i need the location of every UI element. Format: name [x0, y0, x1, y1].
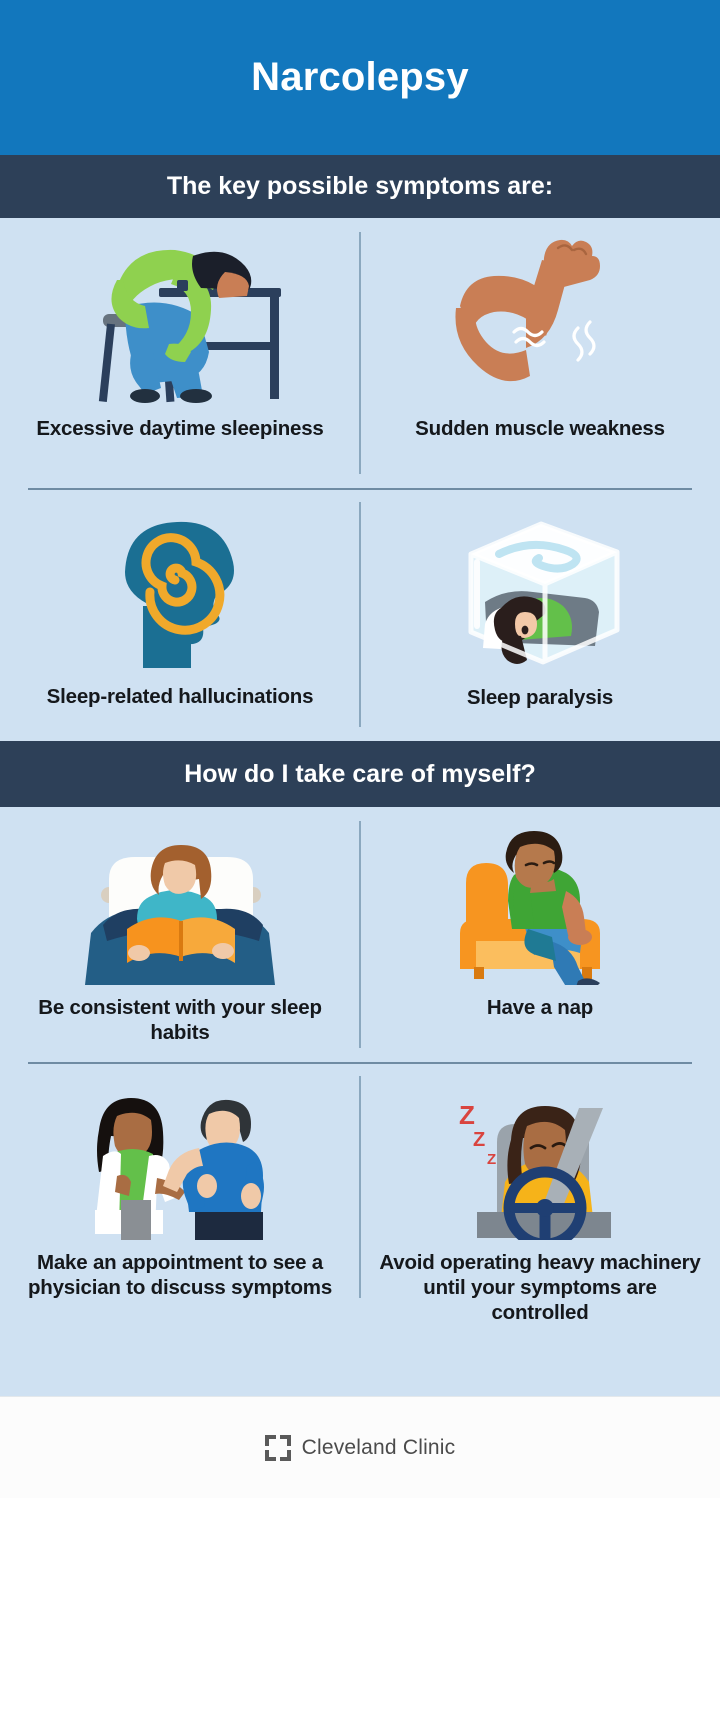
- care-card-sleep-habits: Be consistent with your sleep habits: [0, 807, 360, 1062]
- symptom-card-excessive-daytime-sleepiness: Excessive daytime sleepiness: [0, 218, 360, 488]
- symptom-card-sleep-paralysis: Sleep paralysis: [360, 488, 720, 741]
- symptom-caption: Sudden muscle weakness: [415, 416, 665, 441]
- svg-text:Z: Z: [473, 1129, 485, 1151]
- symptom-caption: Sleep paralysis: [467, 685, 613, 710]
- self-care-row-1: Be consistent with your sleep habits: [0, 807, 720, 1062]
- symptom-caption: Excessive daytime sleepiness: [36, 416, 323, 441]
- person-asleep-at-desk-icon: [14, 236, 346, 406]
- person-napping-in-armchair-icon: [374, 825, 706, 985]
- infographic-page: Narcolepsy The key possible symptoms are…: [0, 0, 720, 1713]
- section-heading-self-care: How do I take care of myself?: [184, 760, 536, 789]
- cleveland-clinic-logo-icon: [265, 1435, 291, 1461]
- symptom-caption: Sleep-related hallucinations: [47, 684, 314, 709]
- self-care-row-2: Make an appointment to see a physician t…: [0, 1062, 720, 1318]
- section-header-self-care: How do I take care of myself?: [0, 741, 720, 807]
- care-caption: Make an appointment to see a physician t…: [14, 1250, 346, 1300]
- flexed-arm-weakness-icon: [374, 236, 706, 406]
- section-header-symptoms: The key possible symptoms are:: [0, 155, 720, 218]
- care-card-have-a-nap: Have a nap: [360, 807, 720, 1062]
- care-card-avoid-heavy-machinery: Z Z Z Avoid operating heavy machinery un…: [360, 1062, 720, 1339]
- symptom-card-sleep-related-hallucinations: Sleep-related hallucinations: [0, 488, 360, 741]
- svg-text:Z: Z: [487, 1151, 496, 1168]
- section-heading-symptoms: The key possible symptoms are:: [167, 172, 553, 201]
- page-title: Narcolepsy: [251, 55, 469, 100]
- symptoms-row-1: Excessive daytime sleepiness: [0, 218, 720, 488]
- care-caption: Have a nap: [487, 995, 593, 1020]
- care-card-see-physician: Make an appointment to see a physician t…: [0, 1062, 360, 1339]
- care-caption: Avoid operating heavy machinery until yo…: [374, 1250, 706, 1325]
- drowsy-driver-at-wheel-icon: Z Z Z: [374, 1080, 706, 1240]
- person-frozen-in-ice-cube-icon: [374, 506, 706, 675]
- page-title-bar: Narcolepsy: [0, 0, 720, 155]
- footer: Cleveland Clinic: [0, 1396, 720, 1498]
- symptoms-row-2: Sleep-related hallucinations: [0, 488, 720, 741]
- symptom-card-sudden-muscle-weakness: Sudden muscle weakness: [360, 218, 720, 488]
- footer-brand-name: Cleveland Clinic: [302, 1436, 456, 1460]
- care-caption: Be consistent with your sleep habits: [14, 995, 346, 1045]
- svg-text:Z: Z: [459, 1100, 475, 1130]
- person-reading-in-bed-icon: [14, 825, 346, 985]
- head-spiral-hallucination-icon: [14, 506, 346, 674]
- physician-and-patient-talking-icon: [14, 1080, 346, 1240]
